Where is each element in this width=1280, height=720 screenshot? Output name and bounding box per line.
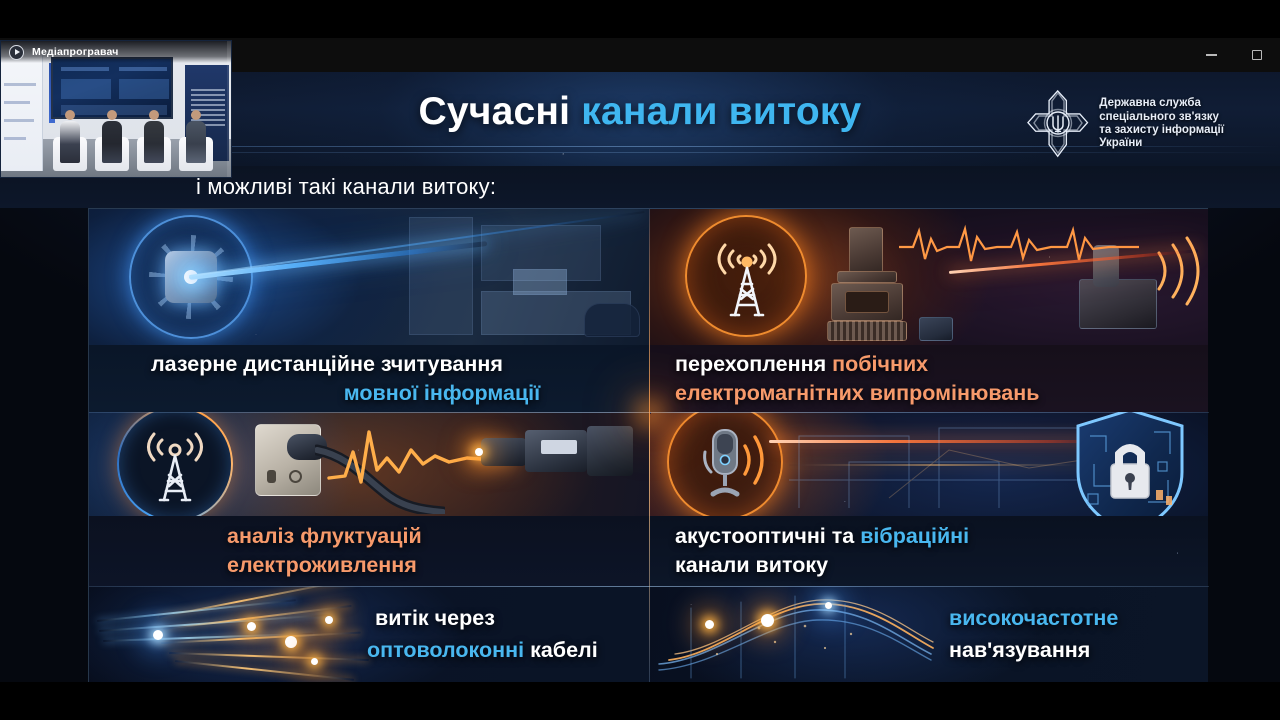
fluctuation-waveform xyxy=(327,420,497,494)
grid-cross-glow xyxy=(649,412,651,414)
caption-seg: акустооптичні та xyxy=(675,524,860,548)
caption-line: оптоволоконні кабелі xyxy=(367,634,598,666)
caption-line: лазерне дистанційне зчитування xyxy=(115,350,503,379)
video-person xyxy=(60,121,80,163)
caption-seg: побічних xyxy=(832,352,928,376)
minimize-icon xyxy=(1206,54,1217,56)
power-fluctuation-caption-cell: аналіз флуктуацій електроживлення xyxy=(89,516,649,586)
organization-name: Державна служба спеціального зв'язку та … xyxy=(1099,97,1224,151)
caption-line: акустооптичні та вібраційні xyxy=(675,522,969,551)
logo-line-4: України xyxy=(1099,137,1224,150)
receiver-waves-icon xyxy=(1149,235,1208,307)
hf-glow-node xyxy=(825,602,832,609)
media-player-title: Медіапрогравач xyxy=(32,46,119,58)
channels-grid: лазерне дистанційне зчитування мовної ін… xyxy=(88,208,1208,682)
video-person xyxy=(102,121,122,163)
office-laptop xyxy=(513,269,567,295)
power-fluctuation-caption: аналіз флуктуацій електроживлення xyxy=(89,516,649,586)
maximize-icon xyxy=(1252,50,1262,60)
caption-line: мовної інформації xyxy=(224,379,540,408)
logo-line-2: спеціального зв'язку xyxy=(1099,111,1224,124)
page-title-white: Сучасні xyxy=(419,90,571,133)
video-person xyxy=(144,121,164,163)
caption-line: високочастотне xyxy=(949,602,1118,634)
page-title-blue: канали витоку xyxy=(570,90,861,133)
screen-root: Сучасні канали витоку Державна xyxy=(0,0,1280,720)
video-person xyxy=(186,121,206,163)
caption-line: електромагнітних випромінювань xyxy=(675,379,1039,408)
media-player-overlay[interactable]: Медіапрогравач xyxy=(0,40,232,178)
hf-wave-icon xyxy=(655,588,935,682)
connector-glow xyxy=(475,448,483,456)
dsszzi-emblem-icon xyxy=(1027,88,1089,160)
office-panel xyxy=(409,217,473,335)
logo-line-1: Державна служба xyxy=(1099,97,1224,110)
equipment-keyboard xyxy=(827,321,907,341)
em-interception-caption: перехоплення побічних електромагнітних в… xyxy=(649,345,1208,412)
em-interception-caption-cell: перехоплення побічних електромагнітних в… xyxy=(649,345,1208,412)
logo-line-3: та захисту інформації xyxy=(1099,124,1224,137)
caption-line: перехоплення побічних xyxy=(675,350,928,379)
em-interception-image xyxy=(649,209,1208,345)
caption-line: витік через xyxy=(367,602,495,634)
grid-rule-vertical xyxy=(649,209,650,682)
analyzer-body xyxy=(587,426,633,476)
laser-reading-caption: лазерне дистанційне зчитування мовної ін… xyxy=(89,345,649,412)
play-circle-icon[interactable] xyxy=(9,45,24,60)
equipment-box xyxy=(919,317,953,341)
acousto-optic-caption: акустооптичні та вібраційні канали виток… xyxy=(649,516,1208,586)
acousto-optic-caption-cell: акустооптичні та вібраційні канали виток… xyxy=(649,516,1208,586)
radio-tower-icon xyxy=(141,426,209,504)
player-edge-bar xyxy=(227,41,231,178)
hf-glow-node xyxy=(705,620,714,629)
caption-line: канали витоку xyxy=(675,551,828,580)
video-backdrop-poster xyxy=(1,49,43,171)
hf-imposition-caption: високочастотне нав'язування xyxy=(949,586,1118,682)
media-player-header: Медіапрогравач xyxy=(1,41,231,63)
organization-logo: Державна служба спеціального зв'язку та … xyxy=(1027,88,1224,160)
equipment-stand xyxy=(837,271,897,283)
caption-seg: оптоволоконні xyxy=(367,638,530,662)
caption-line: нав'язування xyxy=(949,634,1090,666)
maximize-button[interactable] xyxy=(1234,38,1280,72)
analyzer-screen xyxy=(541,440,577,454)
hf-imposition-cell: високочастотне нав'язування xyxy=(649,586,1208,682)
fiber-optic-leak-cell: витік через оптоволоконні кабелі xyxy=(89,586,649,682)
equipment-screen xyxy=(845,291,889,313)
shield-lock-icon xyxy=(1070,412,1190,516)
caption-seg: вібраційні xyxy=(860,524,969,548)
radio-tower-icon xyxy=(711,237,783,319)
acousto-optic-image xyxy=(649,412,1208,516)
office-chair xyxy=(584,303,640,337)
microphone-icon xyxy=(691,424,775,504)
fiber-optic-leak-caption: витік через оптоволоконні кабелі xyxy=(367,586,598,682)
laser-reading-caption-cell: лазерне дистанційне зчитування мовної ін… xyxy=(89,345,649,412)
hf-glow-node xyxy=(761,614,774,627)
outlet-slot xyxy=(267,470,276,483)
outlet-hole xyxy=(289,470,302,483)
laser-reading-image xyxy=(89,209,649,345)
caption-seg: перехоплення xyxy=(675,352,832,376)
caption-seg: кабелі xyxy=(530,638,598,662)
equipment-monitor xyxy=(849,227,883,273)
caption-line: аналіз флуктуацій xyxy=(227,522,422,551)
minimize-button[interactable] xyxy=(1188,38,1234,72)
cable-connector xyxy=(481,438,527,466)
receiver-device xyxy=(1079,279,1157,329)
caption-line: електроживлення xyxy=(227,551,417,580)
power-fluctuation-image xyxy=(89,412,649,516)
